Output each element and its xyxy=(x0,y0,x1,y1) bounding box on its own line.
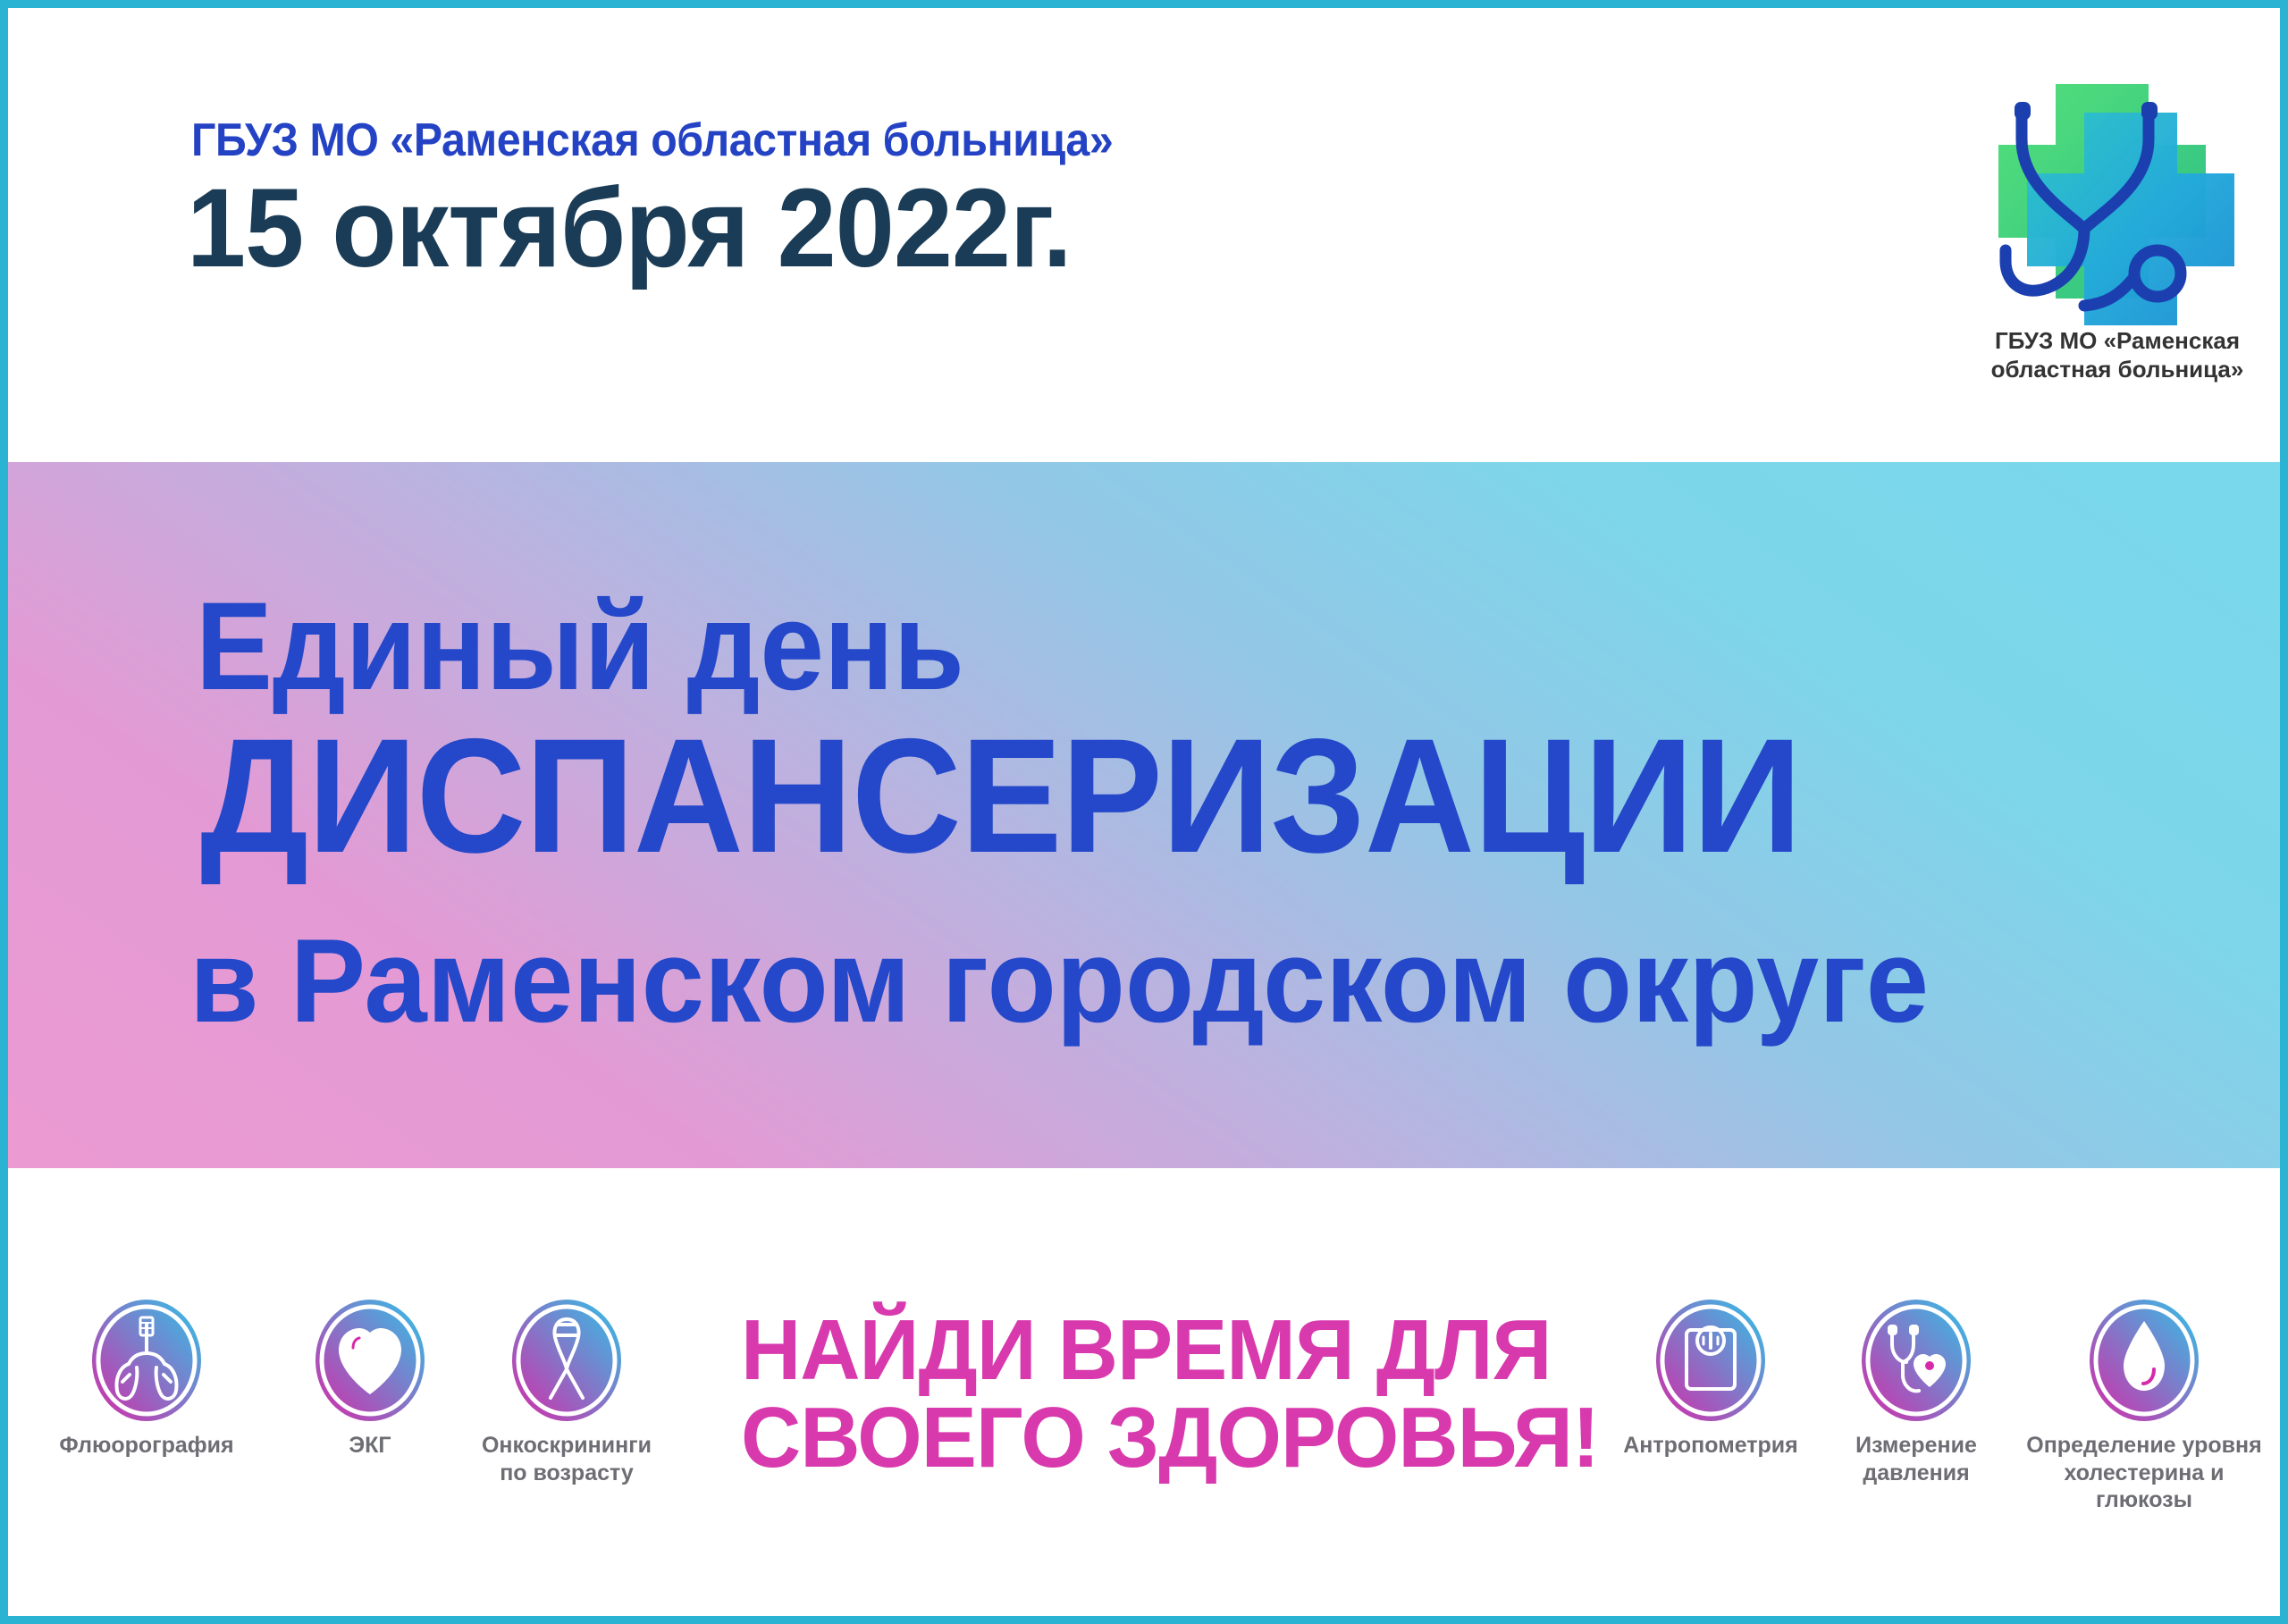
service-label: ЭКГ xyxy=(267,1432,473,1460)
service-item-ecg: ЭКГ xyxy=(267,1298,473,1460)
poster-footer: Флюорография xyxy=(8,1168,2280,1624)
weight-scale-icon xyxy=(1654,1298,1767,1423)
heart-icon xyxy=(314,1298,426,1423)
poster-root: ГБУЗ МО «Раменская областная больница» 1… xyxy=(0,0,2288,1624)
service-label: Определение уровня холестерина и глюкозы xyxy=(2015,1432,2274,1514)
slogan-line-2: СВОЕГО ЗДОРОВЬЯ! xyxy=(741,1394,1573,1482)
service-label: Измерение давления xyxy=(1813,1432,2019,1486)
slogan-line-1: НАЙДИ ВРЕМЯ ДЛЯ xyxy=(741,1307,1573,1394)
headline-line-1: Единый день xyxy=(196,574,964,719)
logo-caption-line1: ГБУЗ МО «Раменская xyxy=(1970,327,2265,356)
service-label: Онкоскрининги по возрасту xyxy=(464,1432,669,1486)
stethoscope-heart-icon xyxy=(1860,1298,1973,1423)
blood-drop-icon xyxy=(2088,1298,2200,1423)
headline-line-3: в Раменском городском округе xyxy=(189,913,1929,1049)
service-item-fluorography: Флюорография xyxy=(44,1298,249,1460)
logo-caption: ГБУЗ МО «Раменская областная больница» xyxy=(1970,327,2265,383)
headline-gradient-band: Единый день ДИСПАНСЕРИЗАЦИИ в Раменском … xyxy=(8,462,2280,1168)
service-item-oncoscreening: Онкоскрининги по возрасту xyxy=(464,1298,669,1486)
service-item-anthropometry: Антропометрия xyxy=(1608,1298,1813,1460)
services-row: Флюорография xyxy=(8,1168,2280,1624)
awareness-ribbon-icon xyxy=(510,1298,623,1423)
hospital-logo: ГБУЗ МО «Раменская областная больница» xyxy=(1970,75,2265,415)
service-label: Антропометрия xyxy=(1608,1432,1813,1460)
headline-block: Единый день ДИСПАНСЕРИЗАЦИИ в Раменском … xyxy=(8,462,2280,1168)
campaign-slogan: НАЙДИ ВРЕМЯ ДЛЯ СВОЕГО ЗДОРОВЬЯ! xyxy=(741,1307,1599,1482)
event-date: 15 октября 2022г. xyxy=(187,164,1072,292)
service-item-blood-pressure: Измерение давления xyxy=(1813,1298,2019,1486)
headline-line-2: ДИСПАНСЕРИЗАЦИИ xyxy=(200,702,1801,889)
poster-header: ГБУЗ МО «Раменская областная больница» 1… xyxy=(8,8,2280,462)
logo-caption-line2: областная больница» xyxy=(1970,356,2265,384)
service-item-cholesterol-glucose: Определение уровня холестерина и глюкозы xyxy=(2015,1298,2274,1514)
service-label: Флюорография xyxy=(44,1432,249,1460)
lungs-icon xyxy=(90,1298,203,1423)
medical-cross-stethoscope-logo-icon xyxy=(1970,75,2265,325)
organization-name: ГБУЗ МО «Раменская областная больница» xyxy=(191,114,1113,167)
